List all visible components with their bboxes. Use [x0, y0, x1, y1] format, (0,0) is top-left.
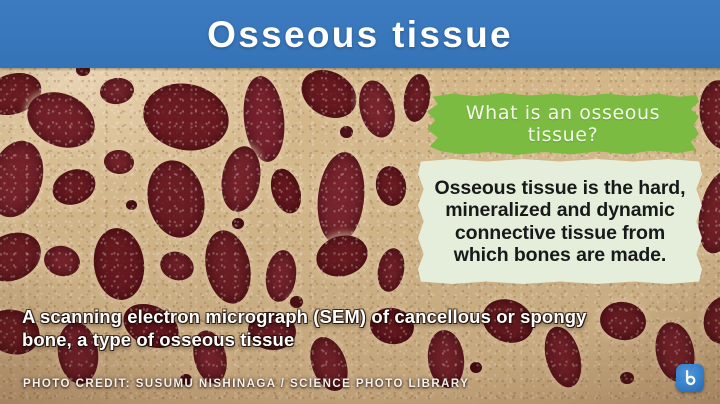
title-banner: Osseous tissue	[0, 0, 720, 68]
page-title: Osseous tissue	[207, 16, 513, 53]
photo-credit: PHOTO CREDIT: SUSUMU NISHINAGA / SCIENCE…	[23, 378, 469, 390]
image-caption: A scanning electron micrograph (SEM) of …	[22, 305, 622, 352]
question-text: What is an osseous tissue?	[435, 102, 691, 147]
answer-text: Osseous tissue is the hard, mineralized …	[427, 177, 693, 266]
osseous-tissue-infographic: Osseous tissue What is an osseous tissue…	[0, 0, 720, 404]
answer-card: Osseous tissue is the hard, mineralized …	[418, 159, 702, 284]
brand-logo-icon[interactable]	[676, 364, 704, 392]
question-callout: What is an osseous tissue?	[427, 93, 699, 155]
